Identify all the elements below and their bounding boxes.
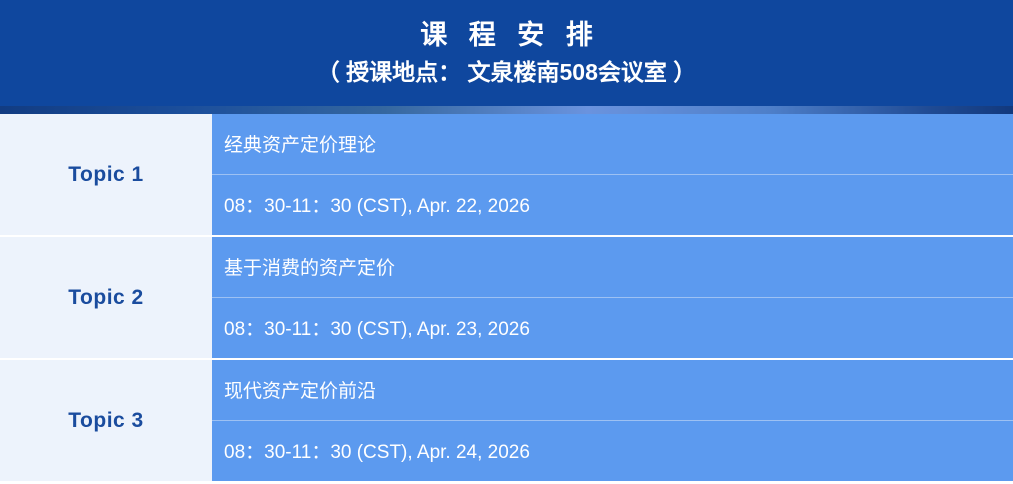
topic-detail-cell: 基于消费的资产定价 08：30-11：30 (CST), Apr. 23, 20…	[212, 237, 1013, 358]
schedule-table: Topic 1 经典资产定价理论 08：30-11：30 (CST), Apr.…	[0, 114, 1013, 483]
schedule-header: 课 程 安 排 （ 授课地点： 文泉楼南508会议室 ）	[0, 0, 1013, 106]
topic-label: Topic 2	[68, 286, 143, 310]
page-title: 课 程 安 排	[413, 22, 600, 49]
topic-label: Topic 3	[68, 409, 143, 433]
table-row: Topic 3 现代资产定价前沿 08：30-11：30 (CST), Apr.…	[0, 360, 1013, 483]
topic-time: 08：30-11：30 (CST), Apr. 23, 2026	[212, 298, 1013, 359]
topic-label-cell: Topic 2	[0, 237, 212, 358]
topic-detail-cell: 经典资产定价理论 08：30-11：30 (CST), Apr. 22, 202…	[212, 114, 1013, 235]
header-gradient-divider	[0, 106, 1013, 114]
topic-title: 现代资产定价前沿	[212, 360, 1013, 421]
topic-label-cell: Topic 1	[0, 114, 212, 235]
topic-label: Topic 1	[68, 163, 143, 187]
table-row: Topic 1 经典资产定价理论 08：30-11：30 (CST), Apr.…	[0, 114, 1013, 237]
topic-title: 基于消费的资产定价	[212, 237, 1013, 298]
table-row: Topic 2 基于消费的资产定价 08：30-11：30 (CST), Apr…	[0, 237, 1013, 360]
topic-title: 经典资产定价理论	[212, 114, 1013, 175]
topic-time: 08：30-11：30 (CST), Apr. 22, 2026	[212, 175, 1013, 236]
page-subtitle-location: （ 授课地点： 文泉楼南508会议室 ）	[317, 61, 697, 84]
topic-detail-cell: 现代资产定价前沿 08：30-11：30 (CST), Apr. 24, 202…	[212, 360, 1013, 481]
topic-time: 08：30-11：30 (CST), Apr. 24, 2026	[212, 421, 1013, 482]
course-schedule-card: 课 程 安 排 （ 授课地点： 文泉楼南508会议室 ） Topic 1 经典资…	[0, 0, 1013, 484]
topic-label-cell: Topic 3	[0, 360, 212, 481]
